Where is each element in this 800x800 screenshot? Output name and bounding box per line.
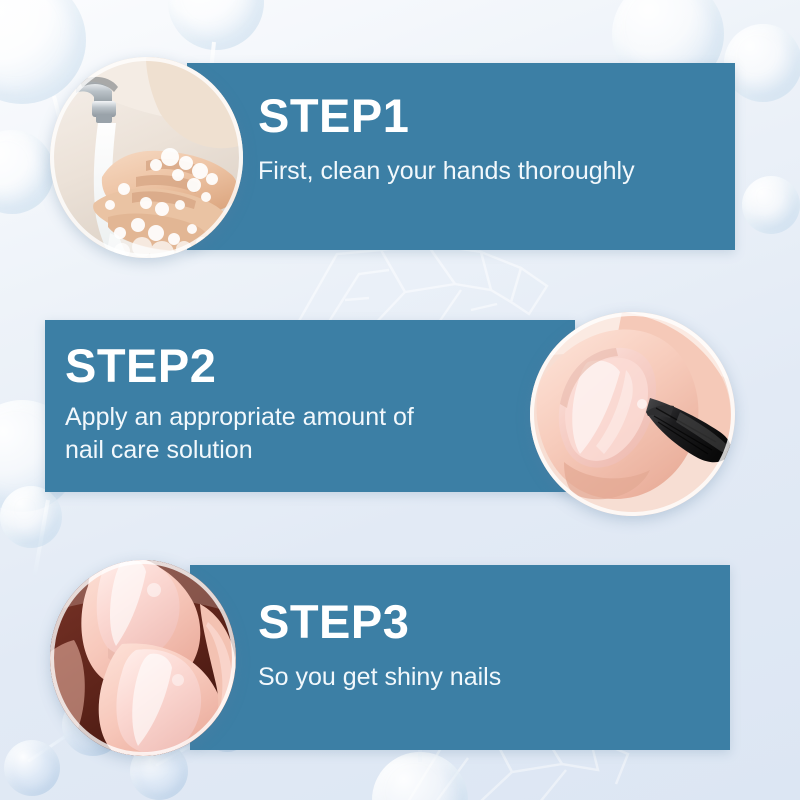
- bubble-decoration: [168, 0, 264, 50]
- step-3-photo: [50, 560, 236, 756]
- step-3-text-block: STEP3 So you get shiny nails: [258, 598, 718, 694]
- bubble-stem-decoration: [32, 500, 49, 578]
- step-1-title: STEP1: [258, 92, 728, 141]
- step-1-description: First, clean your hands thoroughly: [258, 155, 728, 188]
- bubble-decoration: [0, 130, 54, 214]
- bubble-decoration: [372, 752, 468, 800]
- step-3-title: STEP3: [258, 598, 718, 647]
- bubble-decoration: [724, 24, 800, 102]
- bubble-decoration: [0, 486, 62, 548]
- step-1-photo: [50, 57, 243, 258]
- bubble-decoration: [0, 0, 86, 104]
- step-2-text-block: STEP2 Apply an appropriate amount of nai…: [65, 342, 515, 467]
- step-3-description: So you get shiny nails: [258, 661, 718, 694]
- step-2-title: STEP2: [65, 342, 515, 391]
- molecule-node: [4, 740, 60, 796]
- step-2-description: Apply an appropriate amount of nail care…: [65, 401, 515, 467]
- washing-hands-image: [50, 57, 243, 258]
- shiny-nails-image: [50, 560, 236, 756]
- bubble-decoration: [742, 176, 800, 234]
- infographic-poster: STEP1 First, clean your hands thoroughly: [0, 0, 800, 800]
- nail-painting-image: [530, 312, 735, 516]
- step-1-text-block: STEP1 First, clean your hands thoroughly: [258, 92, 728, 188]
- abstract-crystal-outline-icon: [285, 240, 585, 330]
- step-2-photo: [530, 312, 735, 516]
